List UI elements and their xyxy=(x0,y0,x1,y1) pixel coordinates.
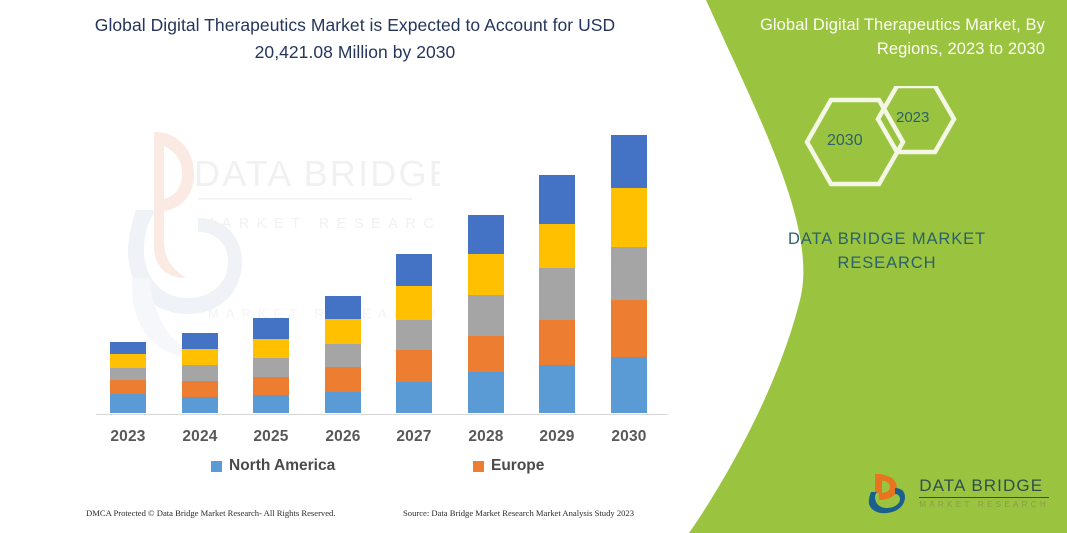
bar-segment-2023-middle-east-and-africa[interactable] xyxy=(110,342,146,354)
bar-column-2023[interactable] xyxy=(110,342,146,413)
bar-segment-2028-middle-east-and-africa[interactable] xyxy=(468,215,504,254)
bar-segment-2025-europe[interactable] xyxy=(253,377,289,395)
bar-segment-2030-north-america[interactable] xyxy=(611,357,647,413)
bar-segment-2029-europe[interactable] xyxy=(539,320,575,365)
bar-segment-2025-south-america[interactable] xyxy=(253,339,289,358)
data-bridge-b-logo-icon xyxy=(866,471,910,515)
bars-layer xyxy=(0,0,710,533)
legend-item-europe[interactable]: Europe xyxy=(473,457,544,475)
chart-card: Global Digital Therapeutics Market is Ex… xyxy=(0,0,710,533)
chart-legend: North America Europe xyxy=(96,457,668,479)
bar-segment-2030-middle-east-and-africa[interactable] xyxy=(611,135,647,188)
footer-dmca-text: DMCA Protected © Data Bridge Market Rese… xyxy=(86,508,336,518)
bar-segment-2028-south-america[interactable] xyxy=(468,254,504,295)
hexagon-badge-group: 2030 2023 xyxy=(779,86,1019,216)
bar-segment-2026-north-america[interactable] xyxy=(325,392,361,413)
bar-segment-2024-north-america[interactable] xyxy=(182,397,218,413)
bar-segment-2026-europe[interactable] xyxy=(325,367,361,392)
legend-item-north-america[interactable]: North America xyxy=(211,457,335,475)
bar-column-2029[interactable] xyxy=(539,175,575,413)
bar-segment-2023-europe[interactable] xyxy=(110,380,146,394)
bar-column-2030[interactable] xyxy=(611,135,647,413)
legend-label-europe: Europe xyxy=(491,457,544,475)
bar-segment-2026-asia-pacific[interactable] xyxy=(325,344,361,367)
bar-segment-2025-middle-east-and-africa[interactable] xyxy=(253,318,289,339)
x-axis-tick-2030: 2030 xyxy=(593,428,665,446)
hexagon-2030-label: 2030 xyxy=(827,132,863,150)
bar-column-2028[interactable] xyxy=(468,215,504,413)
x-axis-tick-2026: 2026 xyxy=(307,428,379,446)
side-panel-title: Global Digital Therapeutics Market, By R… xyxy=(715,14,1045,62)
footer-source-text: Source: Data Bridge Market Research Mark… xyxy=(403,508,634,518)
bar-segment-2023-asia-pacific[interactable] xyxy=(110,368,146,380)
bar-segment-2025-north-america[interactable] xyxy=(253,395,289,413)
side-panel-brand-line1: DATA BRIDGE MARKET xyxy=(707,228,1067,252)
bar-segment-2023-north-america[interactable] xyxy=(110,394,146,413)
bar-segment-2030-asia-pacific[interactable] xyxy=(611,247,647,300)
x-axis-tick-2028: 2028 xyxy=(450,428,522,446)
bar-column-2027[interactable] xyxy=(396,254,432,413)
legend-label-north-america: North America xyxy=(229,457,335,475)
hexagon-2023-label: 2023 xyxy=(896,109,929,126)
bar-segment-2023-south-america[interactable] xyxy=(110,354,146,368)
bar-segment-2025-asia-pacific[interactable] xyxy=(253,358,289,377)
side-panel-content: Global Digital Therapeutics Market, By R… xyxy=(707,0,1067,533)
bar-segment-2024-south-america[interactable] xyxy=(182,349,218,365)
x-axis-tick-2025: 2025 xyxy=(235,428,307,446)
bar-segment-2024-middle-east-and-africa[interactable] xyxy=(182,333,218,349)
bar-segment-2029-asia-pacific[interactable] xyxy=(539,268,575,320)
bar-segment-2024-asia-pacific[interactable] xyxy=(182,365,218,381)
infographic-root: Global Digital Therapeutics Market is Ex… xyxy=(0,0,1067,533)
data-bridge-logo[interactable]: DATA BRIDGE MARKET RESEARCH xyxy=(866,471,1049,515)
legend-swatch-europe xyxy=(473,461,484,472)
bar-segment-2026-south-america[interactable] xyxy=(325,319,361,344)
bar-column-2024[interactable] xyxy=(182,333,218,413)
x-axis-tick-2029: 2029 xyxy=(521,428,593,446)
footer: DMCA Protected © Data Bridge Market Rese… xyxy=(0,506,700,528)
logo-tagline: MARKET RESEARCH xyxy=(919,499,1049,510)
bar-segment-2030-europe[interactable] xyxy=(611,300,647,357)
bar-segment-2029-middle-east-and-africa[interactable] xyxy=(539,175,575,224)
logo-text: DATA BRIDGE MARKET RESEARCH xyxy=(919,476,1049,509)
legend-swatch-north-america xyxy=(211,461,222,472)
side-panel-brand: DATA BRIDGE MARKET RESEARCH xyxy=(707,228,1067,276)
bar-segment-2030-south-america[interactable] xyxy=(611,188,647,247)
bar-segment-2028-asia-pacific[interactable] xyxy=(468,295,504,336)
logo-name: DATA BRIDGE xyxy=(919,476,1049,498)
bar-segment-2027-europe[interactable] xyxy=(396,350,432,382)
x-axis-tick-2027: 2027 xyxy=(378,428,450,446)
side-panel-brand-line2: RESEARCH xyxy=(707,252,1067,276)
bar-segment-2027-north-america[interactable] xyxy=(396,382,432,413)
bar-segment-2028-europe[interactable] xyxy=(468,336,504,372)
bar-column-2026[interactable] xyxy=(325,296,361,413)
bar-segment-2027-asia-pacific[interactable] xyxy=(396,320,432,350)
bar-segment-2026-middle-east-and-africa[interactable] xyxy=(325,296,361,319)
x-axis-tick-2023: 2023 xyxy=(92,428,164,446)
bar-segment-2027-south-america[interactable] xyxy=(396,286,432,320)
bar-segment-2027-middle-east-and-africa[interactable] xyxy=(396,254,432,286)
bar-column-2025[interactable] xyxy=(253,318,289,413)
bar-segment-2024-europe[interactable] xyxy=(182,381,218,397)
bar-segment-2028-north-america[interactable] xyxy=(468,372,504,413)
bar-segment-2029-south-america[interactable] xyxy=(539,224,575,268)
bar-segment-2029-north-america[interactable] xyxy=(539,365,575,413)
x-axis-tick-2024: 2024 xyxy=(164,428,236,446)
